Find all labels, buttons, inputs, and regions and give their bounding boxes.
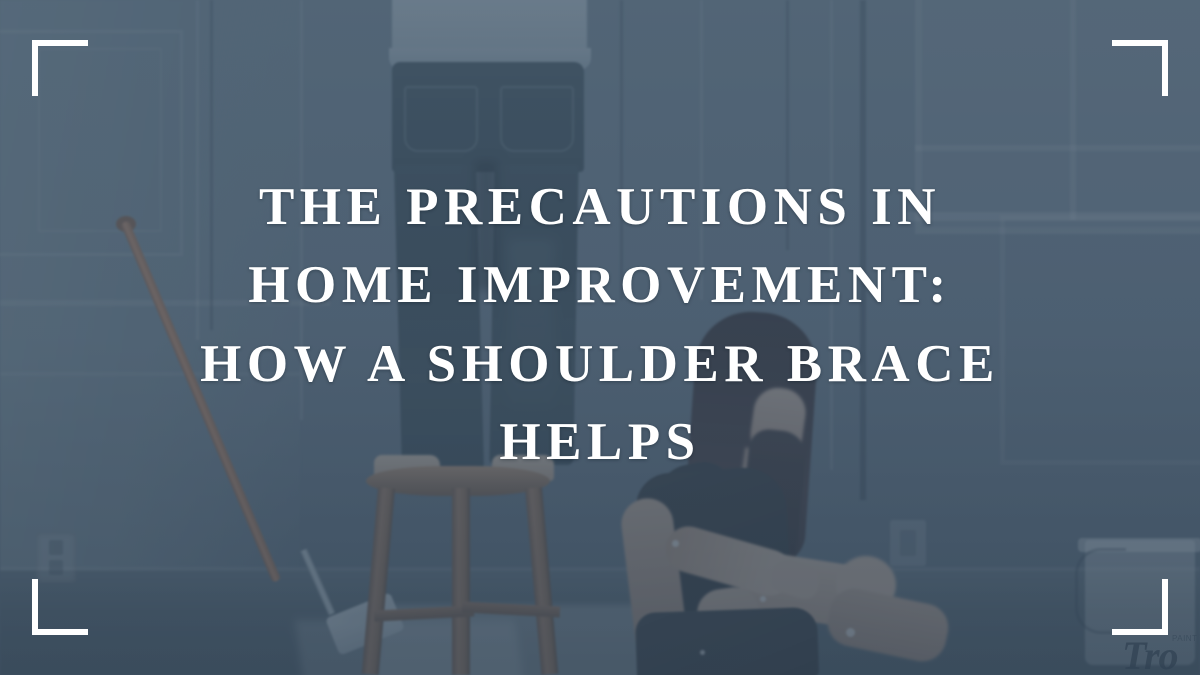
corner-bracket-top-right-icon [1112,40,1168,96]
title-container: THE PRECAUTIONS IN HOME IMPROVEMENT: HOW… [0,168,1200,482]
corner-bracket-top-left-icon [32,40,88,96]
banner-image: Tro PAINT THE PRECAUTIONS IN HOME IMPROV… [0,0,1200,675]
page-title: THE PRECAUTIONS IN HOME IMPROVEMENT: HOW… [60,168,1140,482]
corner-bracket-bottom-right-icon [1112,579,1168,635]
corner-bracket-bottom-left-icon [32,579,88,635]
